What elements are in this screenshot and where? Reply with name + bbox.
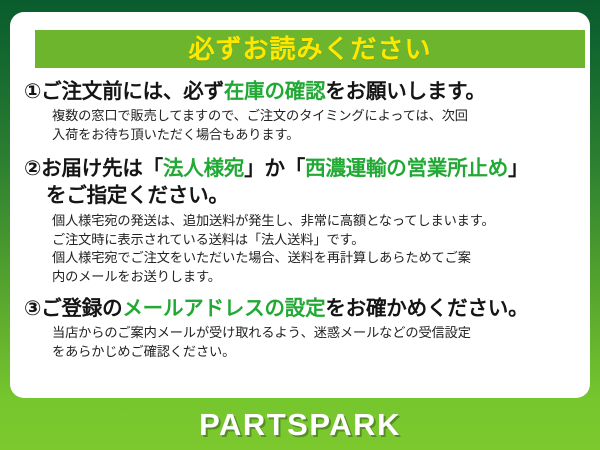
notice-item-1-subline-2: 入荷をお待ち頂いただく場合もあります。 [52, 126, 590, 145]
footer: PARTSPARK [0, 398, 600, 450]
notice-item-3-number: ③ [24, 297, 41, 320]
notice-item-1-highlight: 在庫の確認 [224, 80, 326, 103]
banner: 必ずお読みください [35, 30, 585, 68]
notice-item-2-number: ② [24, 157, 41, 180]
notice-item-3-subline-2: をあらかじめご確認ください。 [52, 343, 590, 362]
notice-item-3-highlight: メールアドレスの設定 [122, 297, 325, 320]
notice-frame: 必ずお読みください ①ご注文前には、必ず在庫の確認をお願いします。 複数の窓口で… [0, 0, 600, 450]
notice-items-list: ①ご注文前には、必ず在庫の確認をお願いします。 複数の窓口で販売してますので、ご… [24, 78, 590, 362]
notice-item-3: ③ご登録のメールアドレスの設定をお確かめください。 当店からのご案内メールが受け… [24, 295, 590, 362]
notice-item-2-subline-1: 個人様宅宛の発送は、追加送料が発生し、非常に高額となってしまいます。 [52, 212, 590, 231]
notice-item-3-heading: ③ご登録のメールアドレスの設定をお確かめください。 [24, 295, 590, 322]
notice-item-1: ①ご注文前には、必ず在庫の確認をお願いします。 複数の窓口で販売してますので、ご… [24, 78, 590, 145]
notice-item-1-number: ① [24, 80, 41, 103]
banner-title: 必ずお読みください [188, 36, 431, 62]
notice-item-3-head-part2: をお確かめください。 [325, 297, 528, 320]
notice-item-2-subtext: 個人様宅宛の発送は、追加送料が発生し、非常に高額となってしまいます。 ご注文時に… [52, 212, 590, 287]
notice-item-2-head-mid: 」か「 [244, 157, 305, 180]
notice-item-2-subline-2: ご注文時に表示されている送料は「法人送料」です。 [52, 231, 590, 250]
notice-card: 必ずお読みください ①ご注文前には、必ず在庫の確認をお願いします。 複数の窓口で… [10, 12, 590, 398]
notice-item-2-head-line2: をご指定ください。 [46, 182, 590, 209]
notice-item-1-subtext: 複数の窓口で販売してますので、ご注文のタイミングによっては、次回 入荷をお待ち頂… [52, 107, 590, 144]
notice-item-3-head-part1: ご登録の [41, 297, 122, 320]
notice-item-1-head-part2: をお願いします。 [325, 80, 485, 103]
notice-item-2-highlight-1: 法人様宛 [163, 157, 244, 180]
notice-item-2-subline-4: 内のメールをお送りします。 [52, 268, 590, 287]
notice-item-3-subtext: 当店からのご案内メールが受け取れるよう、迷惑メールなどの受信設定 をあらかじめご… [52, 324, 590, 361]
brand-logo-text: PARTSPARK [199, 409, 401, 440]
notice-item-1-heading: ①ご注文前には、必ず在庫の確認をお願いします。 [24, 78, 590, 105]
notice-item-3-subline-1: 当店からのご案内メールが受け取れるよう、迷惑メールなどの受信設定 [52, 324, 590, 343]
notice-item-1-subline-1: 複数の窓口で販売してますので、ご注文のタイミングによっては、次回 [52, 107, 590, 126]
notice-item-2-subline-3: 個人様宅宛でご注文をいただいた場合、送料を再計算しあらためてご案 [52, 249, 590, 268]
notice-item-2-head-part2: 」 [508, 157, 528, 180]
notice-item-2-heading: ②お届け先は「法人様宛」か「西濃運輸の営業所止め」をご指定ください。 [24, 155, 590, 210]
notice-item-2-highlight-2: 西濃運輸の営業所止め [305, 157, 508, 180]
notice-item-2-head-part1: お届け先は「 [41, 157, 163, 180]
notice-item-2: ②お届け先は「法人様宛」か「西濃運輸の営業所止め」をご指定ください。 個人様宅宛… [24, 155, 590, 287]
notice-item-1-head-part1: ご注文前には、必ず [41, 80, 224, 103]
